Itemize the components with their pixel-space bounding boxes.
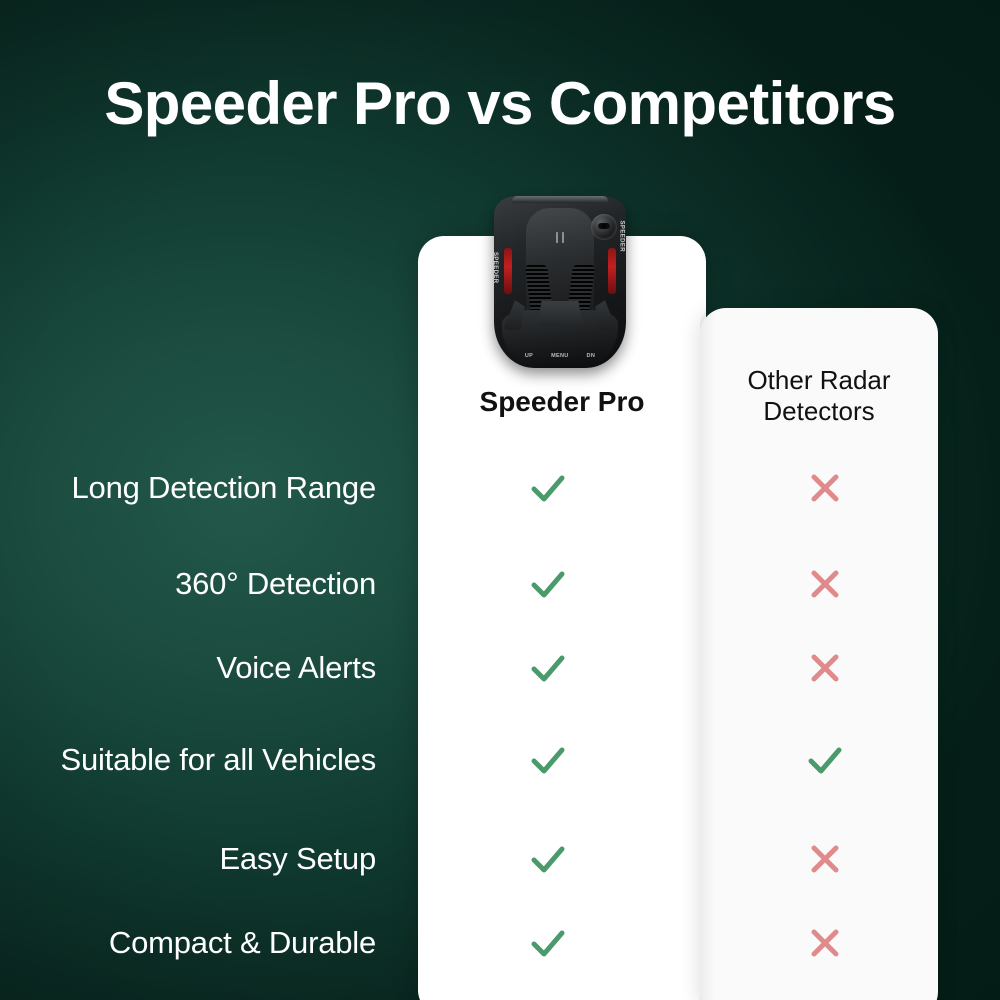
table-row: Long Detection Range	[0, 461, 1000, 515]
table-row: Easy Setup	[0, 832, 1000, 886]
feature-label: Long Detection Range	[0, 467, 390, 509]
feature-label: Suitable for all Vehicles	[0, 739, 390, 781]
check-icon	[525, 920, 571, 966]
feature-rows: Long Detection Range 360° Detection Voic…	[0, 0, 1000, 1000]
check-icon	[525, 645, 571, 691]
table-row: Suitable for all Vehicles	[0, 733, 1000, 787]
cell-other-radar-detectors	[706, 646, 944, 690]
cell-speeder-pro	[390, 465, 706, 511]
feature-label: Compact & Durable	[0, 922, 390, 964]
cell-speeder-pro	[390, 920, 706, 966]
cell-other-radar-detectors	[706, 562, 944, 606]
cell-other-radar-detectors	[706, 921, 944, 965]
check-icon	[525, 465, 571, 511]
check-icon	[802, 737, 848, 783]
cell-speeder-pro	[390, 836, 706, 882]
cell-other-radar-detectors	[706, 466, 944, 510]
cell-other-radar-detectors	[706, 837, 944, 881]
feature-label: Easy Setup	[0, 838, 390, 880]
cell-other-radar-detectors	[706, 737, 944, 783]
feature-label: 360° Detection	[0, 563, 390, 605]
comparison-infographic: Speeder Pro vs Competitors SPEEDER SPEED…	[0, 0, 1000, 1000]
table-row: 360° Detection	[0, 557, 1000, 611]
cross-icon	[803, 837, 847, 881]
cross-icon	[803, 646, 847, 690]
cross-icon	[803, 466, 847, 510]
cell-speeder-pro	[390, 561, 706, 607]
cell-speeder-pro	[390, 645, 706, 691]
check-icon	[525, 561, 571, 607]
table-row: Voice Alerts	[0, 641, 1000, 695]
check-icon	[525, 836, 571, 882]
table-row: Compact & Durable	[0, 916, 1000, 970]
check-icon	[525, 737, 571, 783]
cell-speeder-pro	[390, 737, 706, 783]
cross-icon	[803, 921, 847, 965]
cross-icon	[803, 562, 847, 606]
feature-label: Voice Alerts	[0, 647, 390, 689]
